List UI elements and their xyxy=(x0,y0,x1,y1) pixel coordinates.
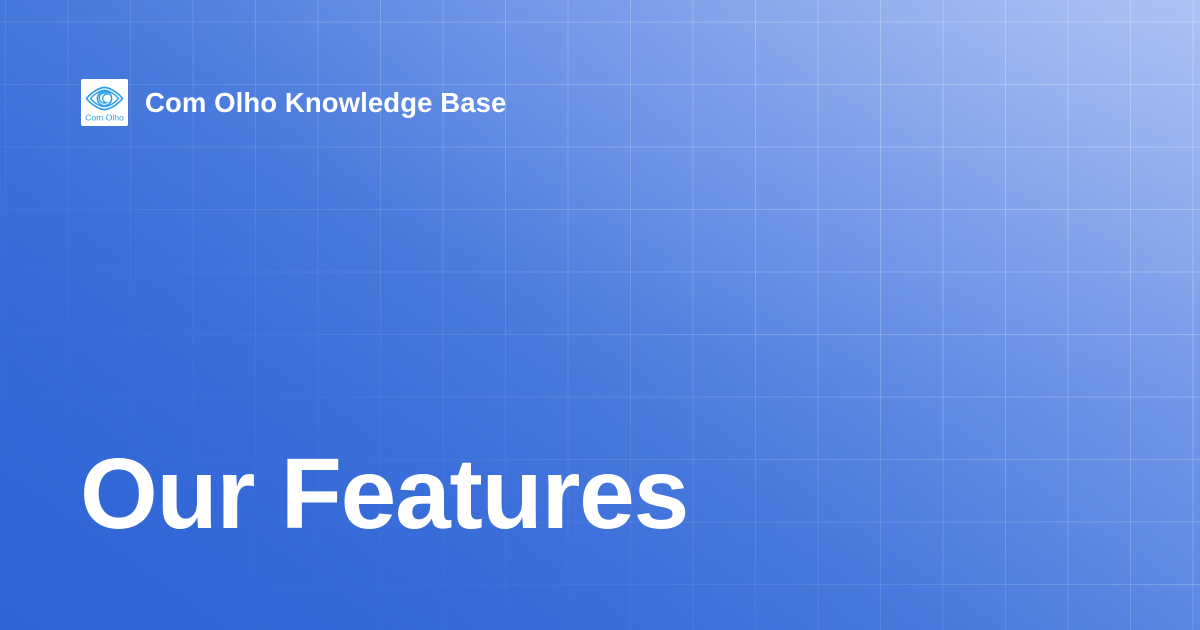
eye-icon: Com Olho xyxy=(83,81,126,124)
logo-wordmark: Com Olho xyxy=(85,113,124,123)
com-olho-logo[interactable]: Com Olho xyxy=(81,79,128,126)
brand-title: Com Olho Knowledge Base xyxy=(145,89,506,117)
hero-section: Our Features xyxy=(80,444,688,544)
site-header[interactable]: Com Olho Com Olho Knowledge Base xyxy=(81,79,506,126)
knowledge-base-banner: Com Olho Com Olho Knowledge Base Our Fea… xyxy=(0,0,1200,630)
page-title: Our Features xyxy=(80,444,688,544)
